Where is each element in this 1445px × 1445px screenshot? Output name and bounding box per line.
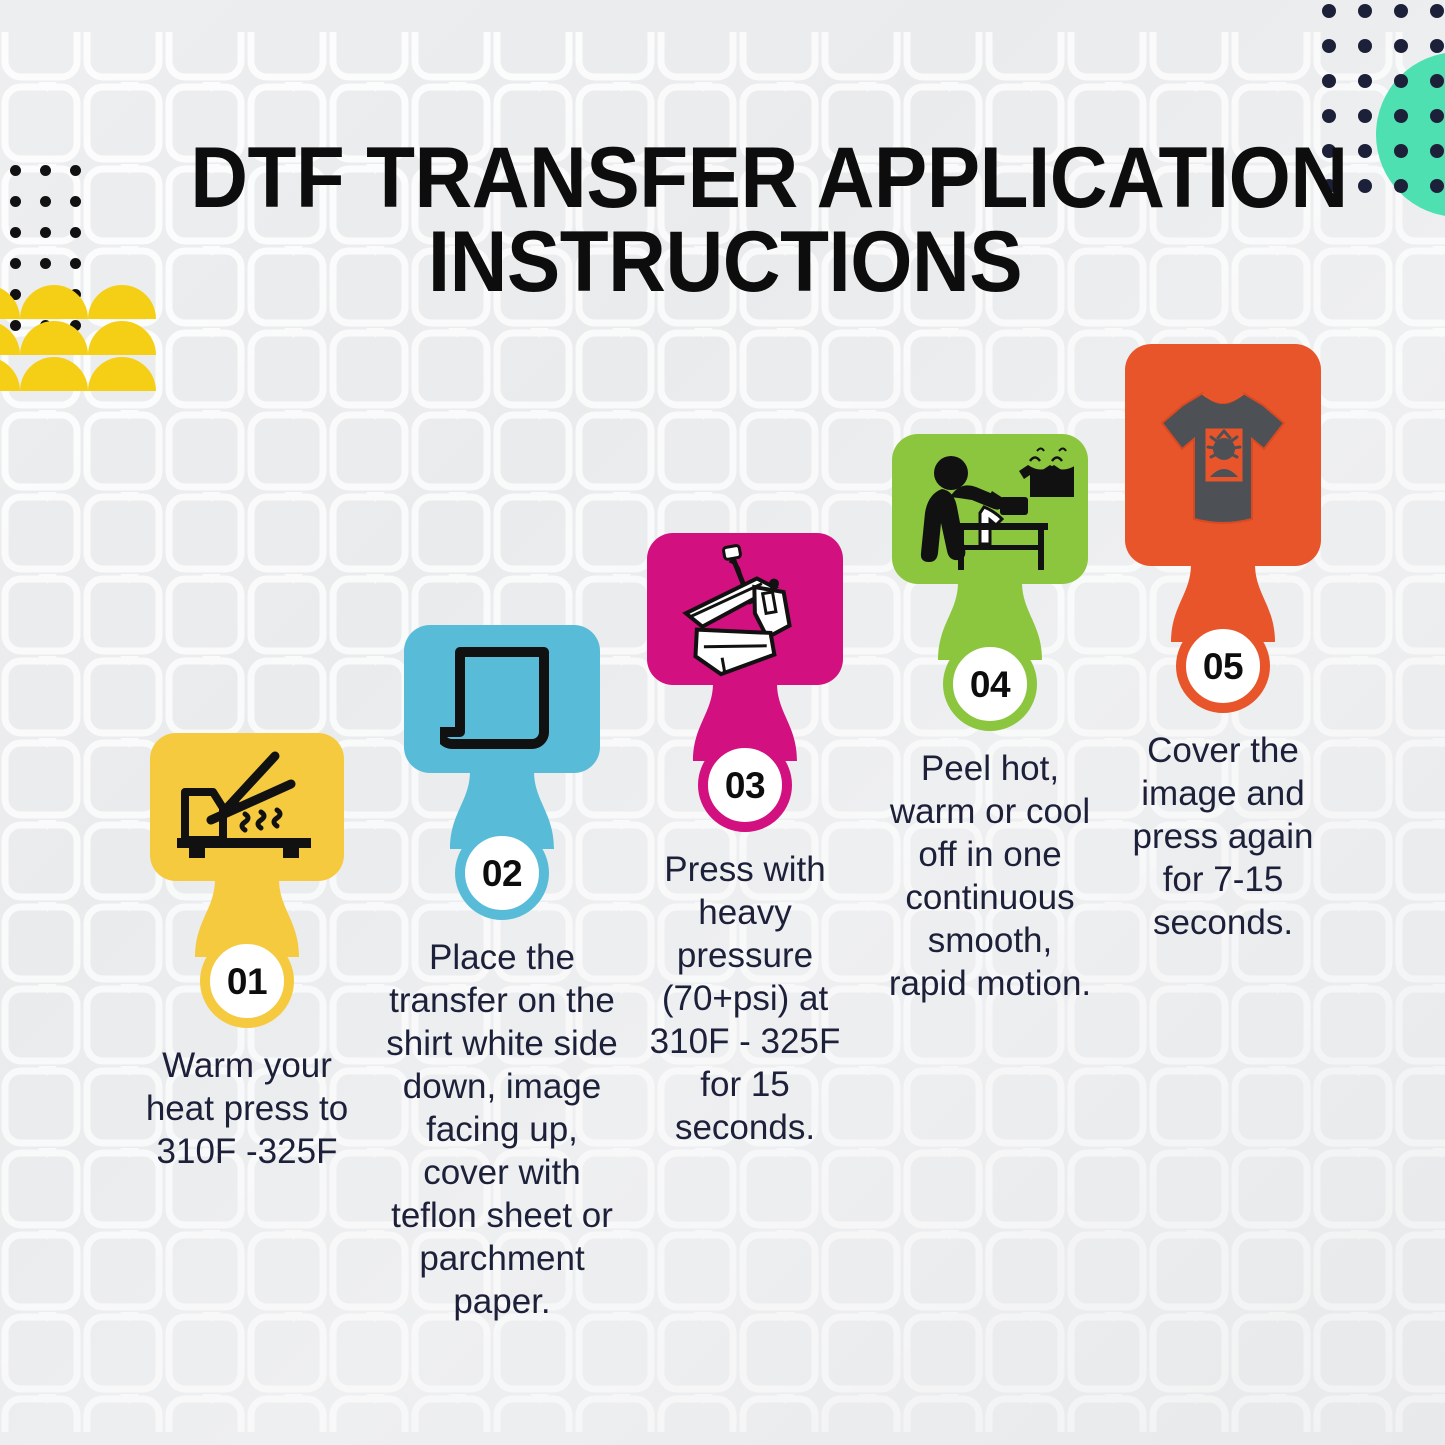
decorative-dot bbox=[10, 165, 21, 176]
step-04-number-badge[interactable]: 04 bbox=[943, 637, 1037, 731]
decorative-dot bbox=[1394, 109, 1408, 123]
step-05-number: 05 bbox=[1203, 648, 1243, 685]
decorative-dot bbox=[70, 258, 81, 269]
step-01-caption: Warm your heat press to 310F -325F bbox=[140, 1044, 355, 1173]
decorative-dot bbox=[1430, 4, 1444, 18]
step-02-icon-card[interactable] bbox=[404, 625, 600, 773]
step-03-icon-card[interactable] bbox=[647, 533, 843, 685]
heat-press-machine-icon bbox=[670, 541, 820, 677]
decorative-dot bbox=[40, 258, 51, 269]
decorative-dot bbox=[10, 196, 21, 207]
step-03-number-badge[interactable]: 03 bbox=[698, 738, 792, 832]
step-01-number: 01 bbox=[227, 963, 267, 1000]
decorative-dot bbox=[70, 165, 81, 176]
step-05-number-badge[interactable]: 05 bbox=[1176, 619, 1270, 713]
page-title: DTF TRANSFER APPLICATION INSTRUCTIONS bbox=[190, 136, 1260, 305]
yellow-half-dome bbox=[0, 285, 20, 319]
decorative-dot bbox=[1358, 109, 1372, 123]
printed-tshirt-icon bbox=[1148, 375, 1298, 535]
decorative-dot bbox=[1394, 179, 1408, 193]
decorative-dot bbox=[1394, 74, 1408, 88]
step-02-caption: Place the transfer on the shirt white si… bbox=[380, 936, 625, 1323]
decorative-dot bbox=[1322, 4, 1336, 18]
decorative-dot bbox=[1358, 179, 1372, 193]
yellow-half-dome bbox=[88, 321, 156, 355]
yellow-half-dome bbox=[20, 357, 88, 391]
yellow-half-dome bbox=[20, 321, 88, 355]
peel-transfer-icon bbox=[906, 445, 1074, 573]
yellow-half-dome bbox=[88, 357, 156, 391]
step-01-number-badge[interactable]: 01 bbox=[200, 934, 294, 1028]
step-01-icon-card[interactable] bbox=[150, 733, 344, 881]
transfer-sheet-icon bbox=[440, 644, 564, 754]
step-03-number: 03 bbox=[725, 767, 765, 804]
decorative-dot bbox=[40, 165, 51, 176]
infographic-canvas: DTF TRANSFER APPLICATION INSTRUCTIONS 05… bbox=[0, 0, 1445, 1445]
heat-press-icon bbox=[171, 750, 323, 864]
decorative-dot bbox=[1430, 74, 1444, 88]
step-02: 02 Place the transfer on the shirt white… bbox=[357, 625, 647, 1323]
title-line-2: INSTRUCTIONS bbox=[190, 220, 1260, 304]
step-04-icon-card[interactable] bbox=[892, 434, 1088, 584]
yellow-half-dome bbox=[20, 285, 88, 319]
decorative-dot bbox=[1394, 4, 1408, 18]
decorative-dot bbox=[1358, 4, 1372, 18]
decorative-dot bbox=[40, 227, 51, 238]
yellow-dome-decoration bbox=[0, 285, 162, 395]
decorative-dot bbox=[40, 196, 51, 207]
decorative-dot bbox=[70, 196, 81, 207]
decorative-dot bbox=[1394, 39, 1408, 53]
decorative-dot bbox=[1358, 74, 1372, 88]
step-04-number: 04 bbox=[970, 666, 1010, 703]
decorative-dot bbox=[1358, 39, 1372, 53]
step-05-icon-card[interactable] bbox=[1125, 344, 1321, 566]
decorative-dot bbox=[1394, 144, 1408, 158]
yellow-half-dome bbox=[0, 357, 20, 391]
decorative-dot bbox=[1358, 144, 1372, 158]
decorative-dot bbox=[1322, 39, 1336, 53]
step-05-caption: Cover the image and press again for 7-15… bbox=[1108, 729, 1338, 944]
yellow-half-dome bbox=[0, 321, 20, 355]
decorative-dot bbox=[1322, 74, 1336, 88]
decorative-dot bbox=[10, 227, 21, 238]
step-01: 01 Warm your heat press to 310F -325F bbox=[102, 733, 392, 1173]
title-line-1: DTF TRANSFER APPLICATION bbox=[190, 136, 1260, 220]
decorative-dot bbox=[1430, 109, 1444, 123]
step-03-caption: Press with heavy pressure (70+psi) at 31… bbox=[638, 848, 853, 1149]
decorative-dot bbox=[1430, 179, 1444, 193]
decorative-dot bbox=[10, 258, 21, 269]
step-04-caption: Peel hot, warm or cool off in one contin… bbox=[885, 747, 1095, 1005]
decorative-dot bbox=[1430, 144, 1444, 158]
step-02-number-badge[interactable]: 02 bbox=[455, 826, 549, 920]
yellow-half-dome bbox=[88, 285, 156, 319]
step-02-number: 02 bbox=[482, 855, 522, 892]
decorative-dot bbox=[70, 227, 81, 238]
decorative-dot bbox=[1430, 39, 1444, 53]
decorative-dot bbox=[1322, 109, 1336, 123]
